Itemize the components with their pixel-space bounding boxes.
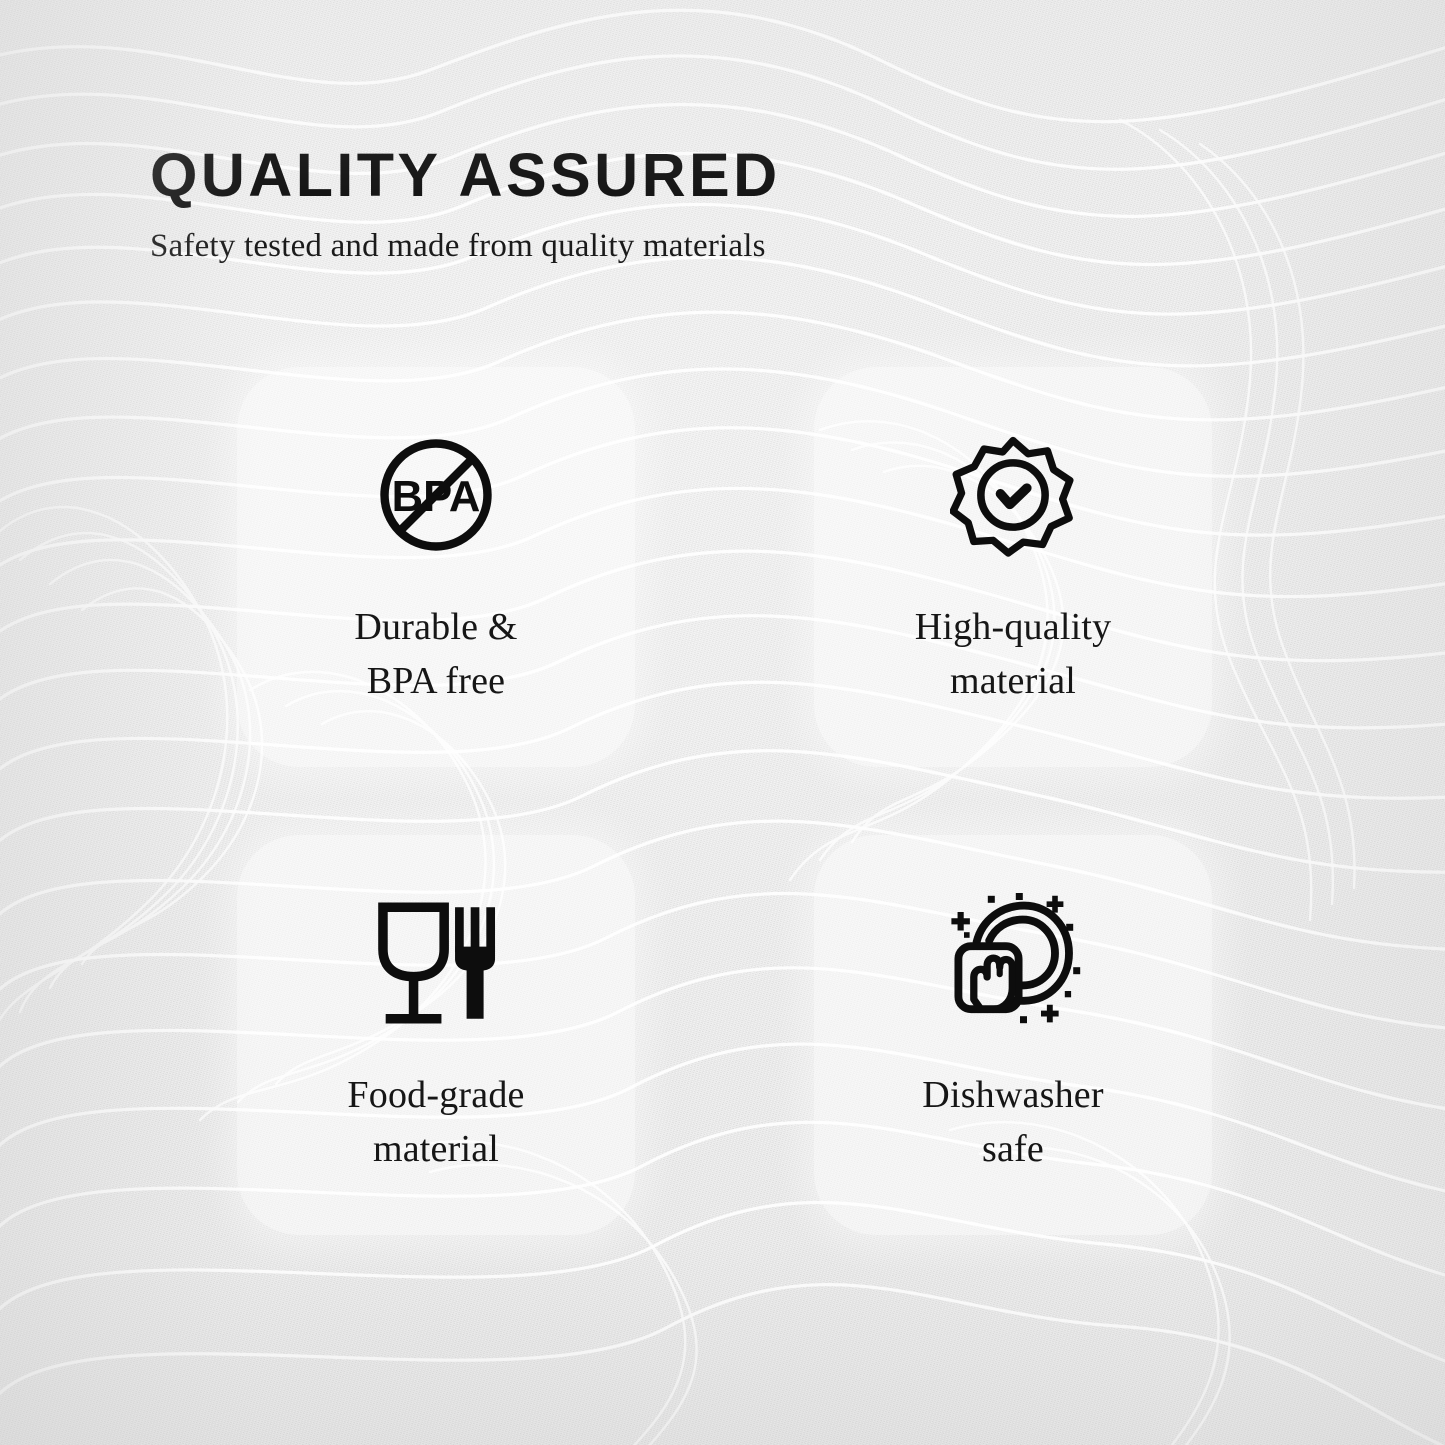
quality-badge-check-icon	[950, 432, 1076, 558]
feature-label: High-quality material	[915, 601, 1112, 709]
page-title: QUALITY ASSURED	[150, 144, 1250, 206]
icon-container: BPA	[370, 429, 502, 561]
hand-washing-plate-icon	[943, 893, 1083, 1033]
feature-card-bpa-free: BPA Durable & BPA free	[237, 367, 635, 767]
no-bpa-icon: BPA	[370, 429, 502, 561]
feature-grid: BPA Durable & BPA free High-quality mate…	[237, 367, 1212, 1237]
icon-container	[943, 897, 1083, 1029]
page-subtitle: Safety tested and made from quality mate…	[150, 228, 1250, 265]
feature-banner: QUALITY ASSURED Safety tested and made f…	[0, 0, 1445, 1445]
feature-card-dishwasher-safe: Dishwasher safe	[814, 835, 1212, 1235]
feature-label: Food-grade material	[347, 1069, 524, 1177]
feature-label: Durable & BPA free	[354, 601, 517, 709]
icon-container	[950, 429, 1076, 561]
header: QUALITY ASSURED Safety tested and made f…	[150, 144, 1250, 265]
feature-card-food-grade: Food-grade material	[237, 835, 635, 1235]
feature-label: Dishwasher safe	[922, 1069, 1103, 1177]
glass-and-fork-icon	[368, 895, 504, 1031]
bpa-icon-text: BPA	[392, 473, 481, 521]
feature-card-high-quality: High-quality material	[814, 367, 1212, 767]
icon-container	[368, 897, 504, 1029]
